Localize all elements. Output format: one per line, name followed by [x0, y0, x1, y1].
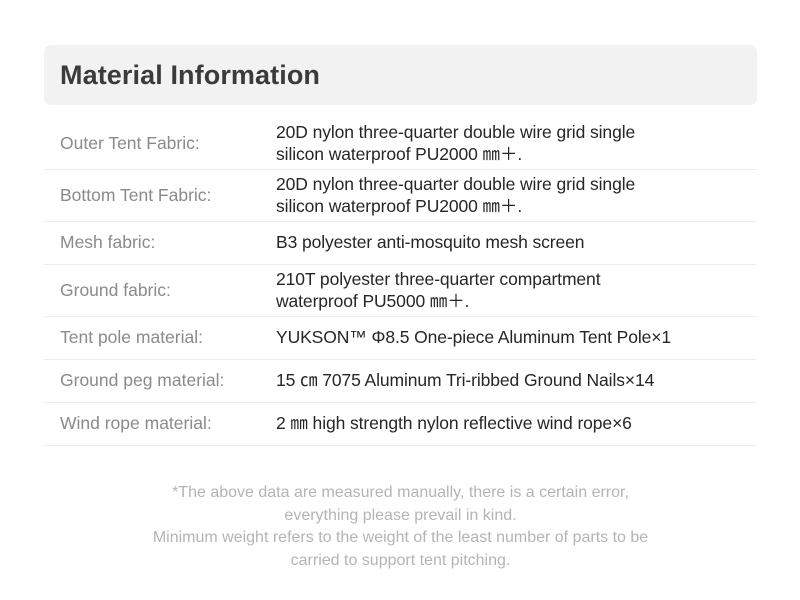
- spec-value-line: silicon waterproof PU2000 ㎜＋.: [276, 196, 757, 218]
- table-row: Bottom Tent Fabric: 20D nylon three-quar…: [44, 170, 757, 222]
- disclaimer-line: carried to support tent pitching.: [44, 550, 757, 573]
- spec-value: YUKSON™ Φ8.5 One-piece Aluminum Tent Pol…: [276, 327, 757, 349]
- spec-value: 20D nylon three-quarter double wire grid…: [276, 174, 757, 218]
- spec-value: 15 ㎝ 7075 Aluminum Tri-ribbed Ground Nai…: [276, 370, 757, 392]
- section-header-band: Material Information: [44, 45, 757, 105]
- spec-label: Ground fabric:: [44, 280, 276, 302]
- spec-label: Ground peg material:: [44, 370, 276, 392]
- spec-value-line: 20D nylon three-quarter double wire grid…: [276, 174, 757, 196]
- spec-label: Outer Tent Fabric:: [44, 133, 276, 155]
- disclaimer-line: *The above data are measured manually, t…: [44, 482, 757, 505]
- material-information-page: Material Information Outer Tent Fabric: …: [0, 0, 800, 600]
- spec-value-line: YUKSON™ Φ8.5 One-piece Aluminum Tent Pol…: [276, 327, 757, 349]
- spec-value-line: silicon waterproof PU2000 ㎜＋.: [276, 144, 757, 166]
- spec-value: 2 ㎜ high strength nylon reflective wind …: [276, 413, 757, 435]
- material-spec-table: Outer Tent Fabric: 20D nylon three-quart…: [44, 118, 757, 446]
- disclaimer-line: Minimum weight refers to the weight of t…: [44, 527, 757, 550]
- spec-label: Wind rope material:: [44, 413, 276, 435]
- spec-value-line: waterproof PU5000 ㎜＋.: [276, 291, 757, 313]
- table-row: Mesh fabric: B3 polyester anti-mosquito …: [44, 222, 757, 265]
- spec-label: Tent pole material:: [44, 327, 276, 349]
- table-row: Ground fabric: 210T polyester three-quar…: [44, 265, 757, 317]
- spec-value-line: 20D nylon three-quarter double wire grid…: [276, 122, 757, 144]
- table-row: Outer Tent Fabric: 20D nylon three-quart…: [44, 118, 757, 170]
- spec-value-line: 210T polyester three-quarter compartment: [276, 269, 757, 291]
- table-row: Wind rope material: 2 ㎜ high strength ny…: [44, 403, 757, 446]
- spec-value-line: 15 ㎝ 7075 Aluminum Tri-ribbed Ground Nai…: [276, 370, 757, 392]
- spec-label: Mesh fabric:: [44, 232, 276, 254]
- spec-label: Bottom Tent Fabric:: [44, 185, 276, 207]
- spec-value-line: 2 ㎜ high strength nylon reflective wind …: [276, 413, 757, 435]
- disclaimer-note: *The above data are measured manually, t…: [44, 482, 757, 573]
- table-row: Ground peg material: 15 ㎝ 7075 Aluminum …: [44, 360, 757, 403]
- disclaimer-line: everything please prevail in kind.: [44, 505, 757, 528]
- spec-value: 20D nylon three-quarter double wire grid…: [276, 122, 757, 166]
- spec-value-line: B3 polyester anti-mosquito mesh screen: [276, 232, 757, 254]
- spec-value: B3 polyester anti-mosquito mesh screen: [276, 232, 757, 254]
- page-title: Material Information: [60, 62, 320, 89]
- spec-value: 210T polyester three-quarter compartment…: [276, 269, 757, 313]
- table-row: Tent pole material: YUKSON™ Φ8.5 One-pie…: [44, 317, 757, 360]
